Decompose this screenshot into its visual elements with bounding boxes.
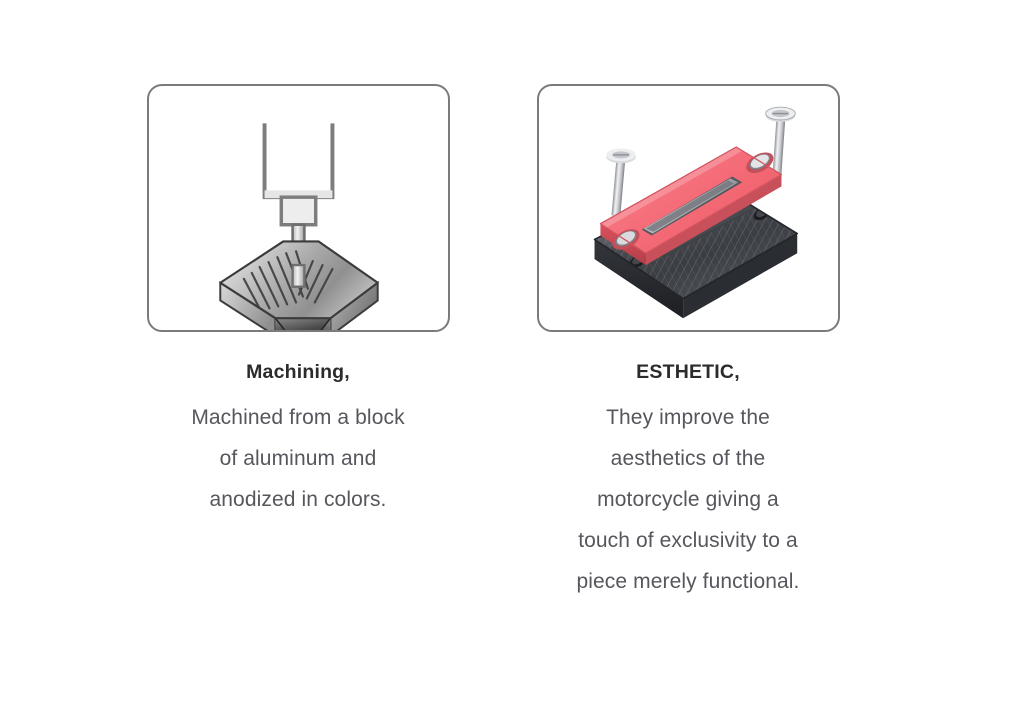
desc-line: Machined from a block	[128, 397, 468, 438]
anodized-plate-photo	[539, 86, 838, 330]
machining-icon-card	[147, 84, 450, 332]
machining-description: Machined from a block of aluminum and an…	[128, 397, 468, 520]
esthetic-text-block: ESTHETIC, They improve the aesthetics of…	[518, 359, 858, 602]
esthetic-title: ESTHETIC,	[518, 359, 858, 385]
desc-line: of aluminum and	[128, 438, 468, 479]
desc-line: aesthetics of the	[518, 438, 858, 479]
cnc-milling-icon	[149, 86, 448, 330]
desc-line: anodized in colors.	[128, 479, 468, 520]
desc-line: piece merely functional.	[518, 561, 858, 602]
machining-text-block: Machining, Machined from a block of alum…	[128, 359, 468, 520]
esthetic-icon-card	[537, 84, 840, 332]
feature-card-machining: Machining, Machined from a block of alum…	[108, 84, 488, 520]
desc-line: They improve the	[518, 397, 858, 438]
esthetic-description: They improve the aesthetics of the motor…	[518, 397, 858, 602]
machining-title: Machining,	[128, 359, 468, 385]
desc-line: touch of exclusivity to a	[518, 520, 858, 561]
features-row: Machining, Machined from a block of alum…	[0, 0, 1024, 715]
desc-line: motorcycle giving a	[518, 479, 858, 520]
feature-card-esthetic: ESTHETIC, They improve the aesthetics of…	[498, 84, 878, 602]
